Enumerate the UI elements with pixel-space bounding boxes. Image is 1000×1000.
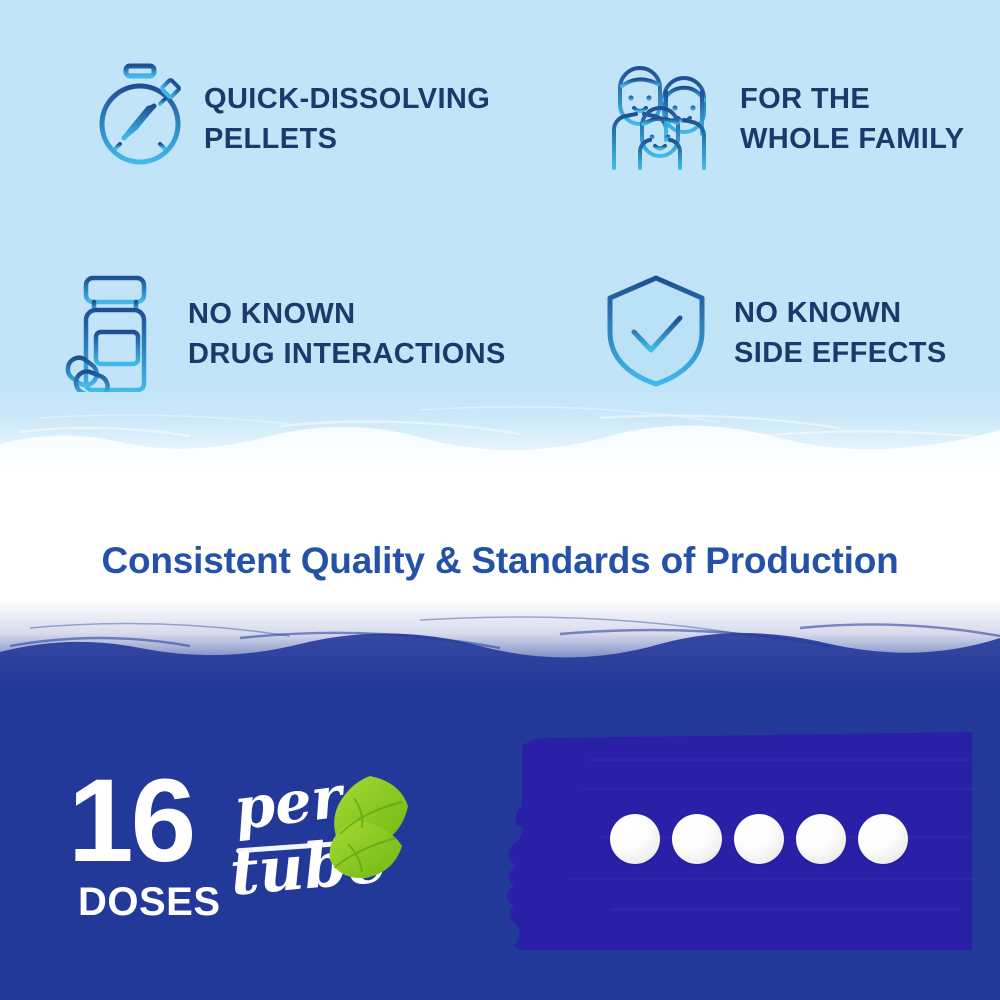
- shield-check-icon: [604, 272, 708, 395]
- benefit-item-no-drug-interactions: NO KNOWN DRUG INTERACTIONS: [62, 272, 506, 397]
- product-benefits-infographic: QUICK-DISSOLVING PELLETS: [0, 0, 1000, 1000]
- page-title: Consistent Quality & Standards of Produc…: [0, 540, 1000, 582]
- quality-band: [0, 500, 1000, 680]
- benefit-label: FOR THE WHOLE FAMILY: [740, 80, 964, 159]
- benefit-label: NO KNOWN DRUG INTERACTIONS: [188, 295, 506, 374]
- benefit-item-no-side-effects: NO KNOWN SIDE EFFECTS: [604, 272, 947, 395]
- benefits-panel: QUICK-DISSOLVING PELLETS: [0, 0, 1000, 470]
- benefits-grid: QUICK-DISSOLVING PELLETS: [0, 0, 1000, 420]
- benefit-label: NO KNOWN SIDE EFFECTS: [734, 294, 947, 373]
- benefit-item-whole-family: FOR THE WHOLE FAMILY: [600, 58, 964, 181]
- pellet: [672, 814, 722, 864]
- pill-bottle-icon: [62, 272, 166, 397]
- pellet-row: [610, 810, 930, 868]
- pellet: [796, 814, 846, 864]
- benefit-item-quick-dissolving: QUICK-DISSOLVING PELLETS: [78, 58, 490, 181]
- pellet: [858, 814, 908, 864]
- dose-count: 16: [68, 762, 193, 880]
- stopwatch-icon: [78, 58, 182, 181]
- benefit-label: QUICK-DISSOLVING PELLETS: [204, 80, 490, 159]
- pellet: [610, 814, 660, 864]
- mint-leaf-icon: [318, 772, 414, 887]
- dose-unit-label: DOSES: [78, 882, 221, 922]
- pellet: [734, 814, 784, 864]
- family-icon: [600, 58, 718, 181]
